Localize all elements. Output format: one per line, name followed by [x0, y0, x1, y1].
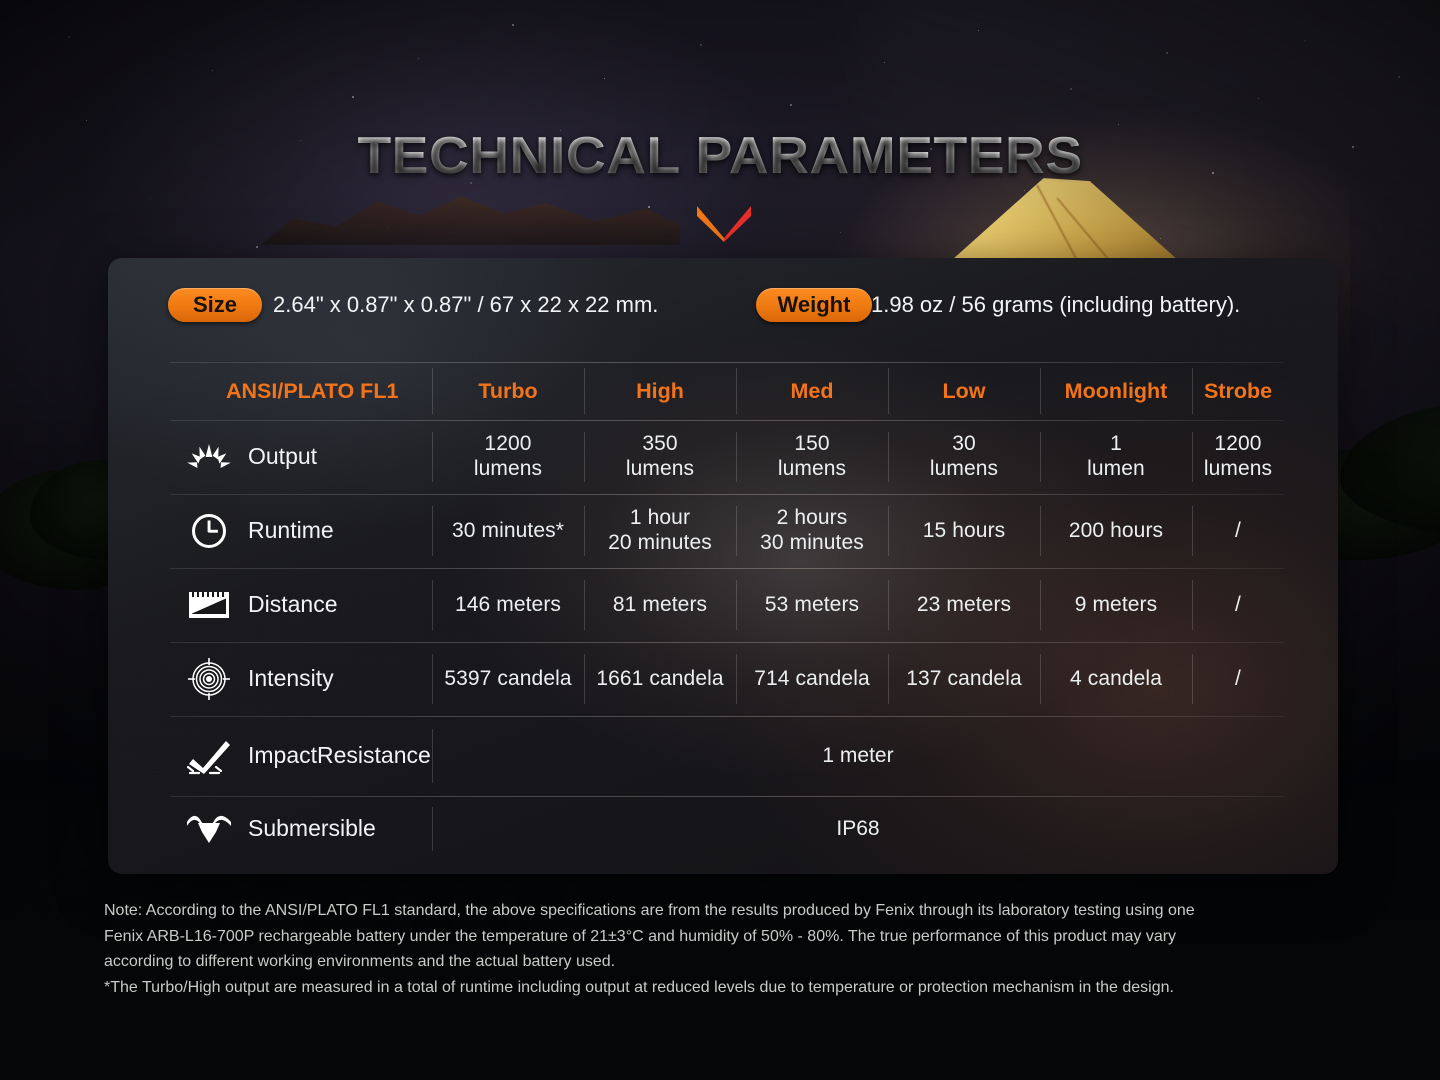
row-label-text: Output [248, 444, 317, 470]
impact-icon [170, 737, 248, 775]
table-header-row: ANSI/PLATO FL1 Turbo High Med Low Moonli… [170, 362, 1284, 420]
cell-distance-low: 23 meters [888, 568, 1040, 642]
table-row-impact-resistance: ImpactResistance 1 meter [170, 716, 1284, 796]
submersible-icon [170, 812, 248, 846]
row-label-runtime: Runtime [170, 494, 432, 568]
row-label-output: Output [170, 420, 432, 494]
ruler-icon [170, 588, 248, 622]
cell-output-med: 150lumens [736, 420, 888, 494]
row-label-impact-resistance: ImpactResistance [170, 716, 432, 796]
specifications-table: ANSI/PLATO FL1 Turbo High Med Low Moonli… [170, 362, 1284, 862]
cell-intensity-moonlight: 4 candela [1040, 642, 1192, 716]
cell-intensity-strobe: / [1192, 642, 1284, 716]
column-header-strobe: Strobe [1192, 362, 1284, 420]
cell-submersible-value: IP68 [432, 796, 1284, 862]
size-value: 2.64" x 0.87" x 0.87" / 67 x 22 x 22 mm. [273, 288, 658, 322]
row-label-text: Intensity [248, 666, 334, 692]
column-header-turbo: Turbo [432, 362, 584, 420]
cell-output-moonlight: 1lumen [1040, 420, 1192, 494]
cell-intensity-low: 137 candela [888, 642, 1040, 716]
row-label-text: Runtime [248, 518, 334, 544]
cell-runtime-strobe: / [1192, 494, 1284, 568]
size-weight-row: Size 2.64" x 0.87" x 0.87" / 67 x 22 x 2… [108, 258, 1338, 352]
cell-distance-moonlight: 9 meters [1040, 568, 1192, 642]
cell-intensity-turbo: 5397 candela [432, 642, 584, 716]
note-line-1: Note: According to the ANSI/PLATO FL1 st… [104, 898, 1366, 924]
cell-distance-turbo: 146 meters [432, 568, 584, 642]
column-header-med: Med [736, 362, 888, 420]
table-row-output: Output 1200lumens 350lumens 150lumens 30… [170, 420, 1284, 494]
cell-output-high: 350lumens [584, 420, 736, 494]
sunburst-icon [170, 440, 248, 474]
row-label-submersible: Submersible [170, 796, 432, 862]
clock-icon [170, 512, 248, 550]
row-label-distance: Distance [170, 568, 432, 642]
cell-runtime-moonlight: 200 hours [1040, 494, 1192, 568]
table-row-intensity: Intensity 5397 candela 1661 candela 714 … [170, 642, 1284, 716]
cell-distance-strobe: / [1192, 568, 1284, 642]
target-icon [170, 658, 248, 700]
column-header-moonlight: Moonlight [1040, 362, 1192, 420]
cell-runtime-med: 2 hours30 minutes [736, 494, 888, 568]
cell-intensity-med: 714 candela [736, 642, 888, 716]
weight-value: 1.98 oz / 56 grams (including battery). [871, 288, 1240, 322]
cell-output-turbo: 1200lumens [432, 420, 584, 494]
cell-runtime-high: 1 hour20 minutes [584, 494, 736, 568]
note-line-4: *The Turbo/High output are measured in a… [104, 975, 1366, 1001]
cell-distance-med: 53 meters [736, 568, 888, 642]
column-header-high: High [584, 362, 736, 420]
specs-panel: Size 2.64" x 0.87" x 0.87" / 67 x 22 x 2… [108, 258, 1338, 874]
table-row-runtime: Runtime 30 minutes* 1 hour20 minutes 2 h… [170, 494, 1284, 568]
table-row-distance: Distance 146 meters 81 meters 53 meters … [170, 568, 1284, 642]
column-header-standard: ANSI/PLATO FL1 [170, 362, 432, 420]
cell-distance-high: 81 meters [584, 568, 736, 642]
note-line-3: according to different working environme… [104, 949, 1366, 975]
page-title: TECHNICAL PARAMETERS [357, 126, 1082, 186]
row-label-text: Submersible [248, 816, 376, 842]
cell-intensity-high: 1661 candela [584, 642, 736, 716]
weight-badge: Weight [756, 288, 872, 322]
row-label-text: Distance [248, 592, 337, 618]
column-header-low: Low [888, 362, 1040, 420]
note-block: Note: According to the ANSI/PLATO FL1 st… [104, 898, 1366, 1000]
title-block: TECHNICAL PARAMETERS [0, 126, 1440, 186]
note-line-2: Fenix ARB-L16-700P rechargeable battery … [104, 924, 1366, 950]
cell-runtime-turbo: 30 minutes* [432, 494, 584, 568]
size-badge: Size [168, 288, 262, 322]
row-label-text: ImpactResistance [248, 743, 431, 769]
chevron-down-icon [697, 204, 751, 242]
cell-output-strobe: 1200lumens [1192, 420, 1284, 494]
cell-runtime-low: 15 hours [888, 494, 1040, 568]
table-row-submersible: Submersible IP68 [170, 796, 1284, 862]
cell-output-low: 30lumens [888, 420, 1040, 494]
row-label-intensity: Intensity [170, 642, 432, 716]
cell-impact-resistance-value: 1 meter [432, 716, 1284, 796]
